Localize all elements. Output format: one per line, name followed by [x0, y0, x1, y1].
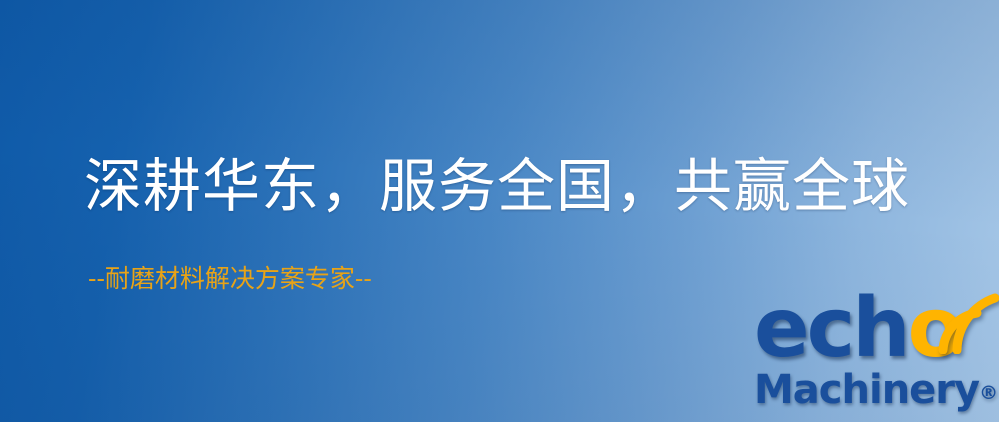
- banner-headline: 深耕华东，服务全国，共赢全球: [84, 157, 910, 215]
- banner-subtitle: --耐磨材料解决方案专家--: [88, 266, 372, 291]
- logo-tagline: Machinery: [754, 367, 979, 413]
- logo-wordmark: echo: [748, 292, 999, 370]
- logo-tagline-row: Machinery®: [754, 368, 998, 415]
- echo-machinery-logo[interactable]: echo Machinery®: [748, 292, 999, 422]
- wifi-waves-icon: [933, 288, 999, 354]
- logo-brand-prefix: ech: [754, 281, 908, 376]
- logo-brand-text: echo: [754, 288, 961, 370]
- promo-banner: 深耕华东，服务全国，共赢全球 --耐磨材料解决方案专家-- echo Machi…: [0, 0, 999, 422]
- registered-trademark-icon: ®: [979, 382, 998, 404]
